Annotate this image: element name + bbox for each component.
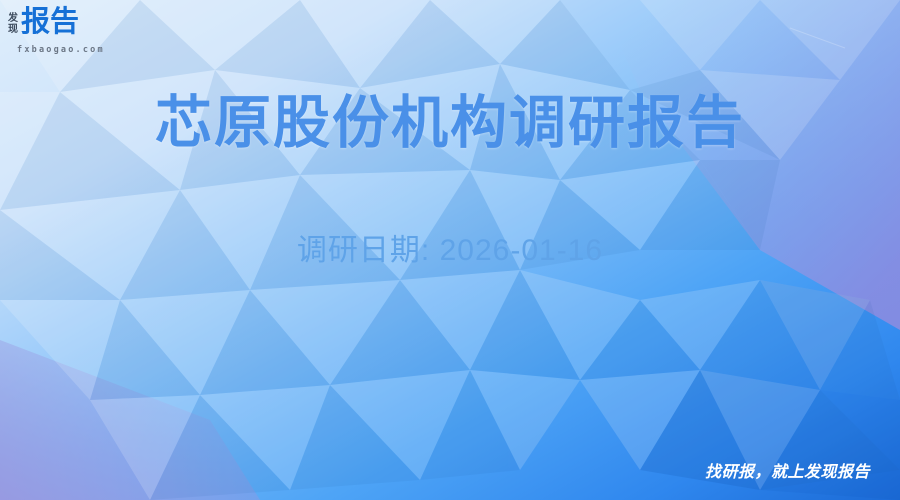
logo-wordmark: 报告 (21, 8, 79, 37)
logo-domain-text: fxbaogao.com (17, 45, 105, 55)
logo-mark-bottom: 现 (8, 24, 18, 35)
survey-date-subtitle: 调研日期: 2026-01-16 (0, 230, 900, 272)
logo-lockup: 发 现 报告 (8, 8, 79, 37)
logo-mark-top: 发 (8, 13, 18, 24)
page-title: 芯原股份机构调研报告 (0, 88, 900, 158)
report-cover: 发 现 报告 fxbaogao.com 芯原股份机构调研报告 调研日期: 202… (0, 0, 900, 500)
footer-slogan: 找研报，就上发现报告 (705, 462, 870, 484)
logo-mark-characters: 发 现 (8, 11, 18, 35)
site-logo[interactable]: 发 现 报告 fxbaogao.com (8, 8, 79, 52)
